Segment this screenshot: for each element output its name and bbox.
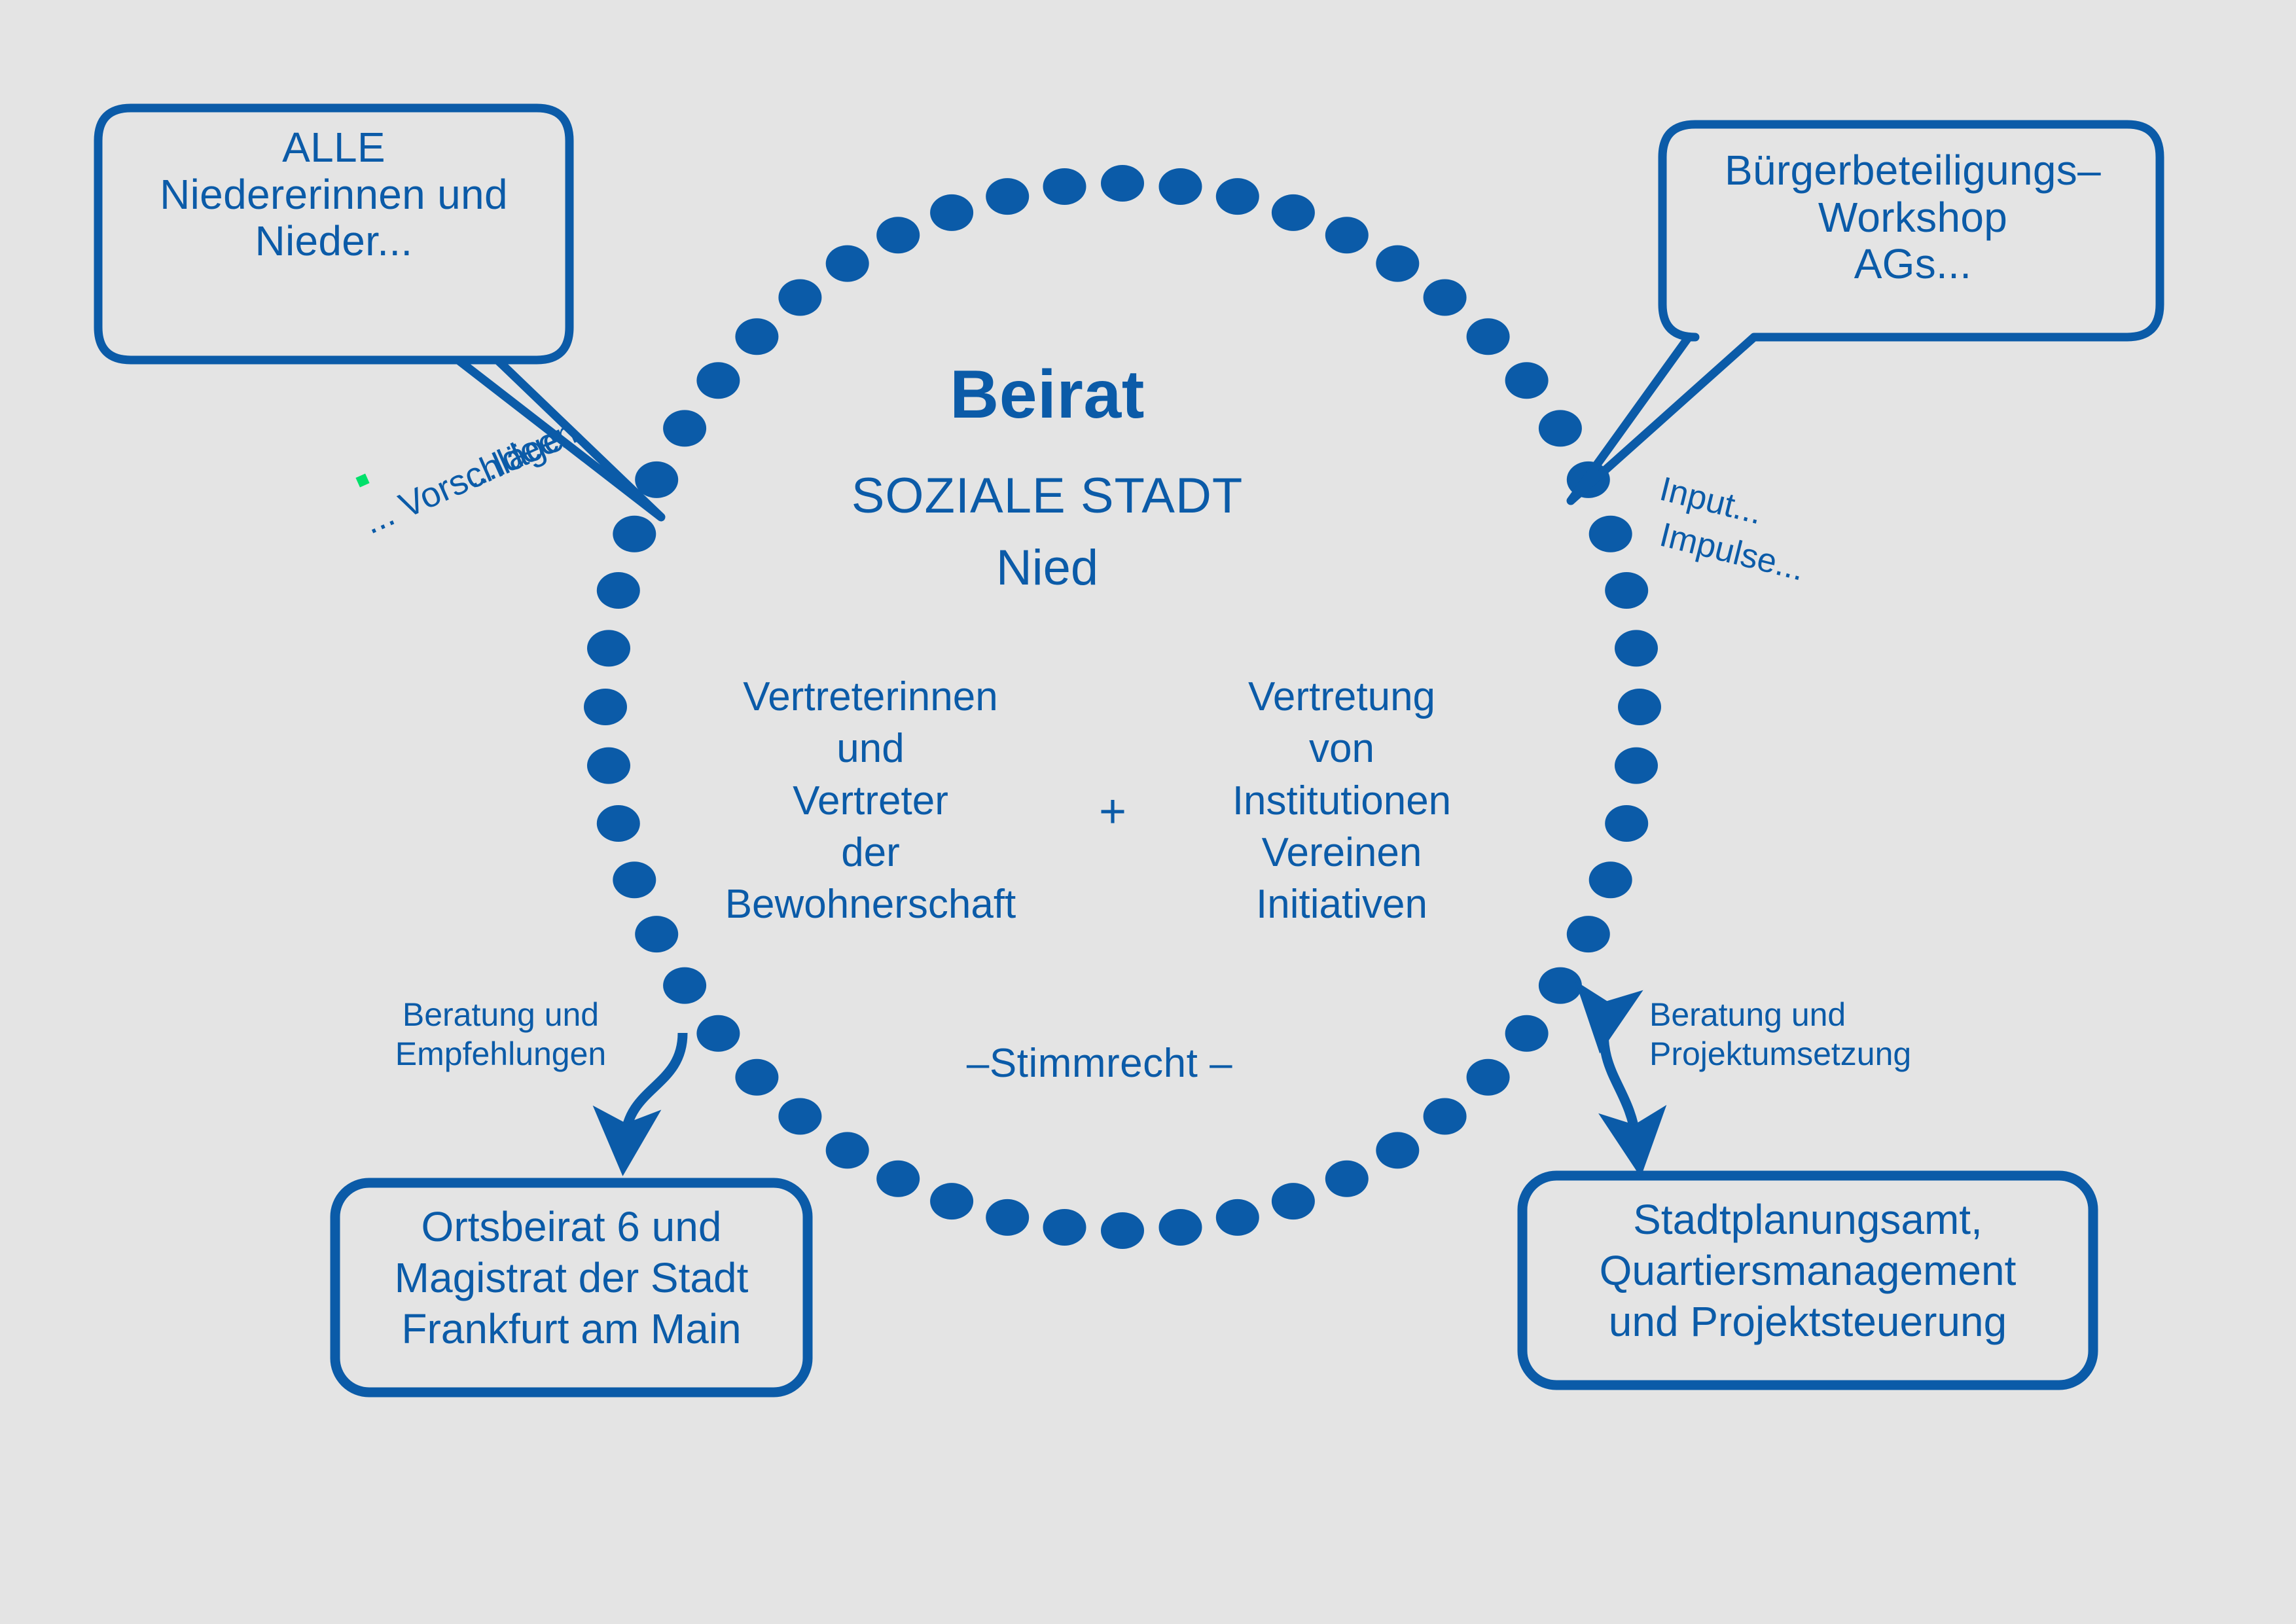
stadtplanungsamt-box-text: Stadtplanungsamt, Quartiersmanagement un… — [1529, 1194, 2087, 1347]
box-line: Quartiersmanagement — [1529, 1245, 2087, 1296]
column-line: Vereinen — [1158, 827, 1525, 878]
box-line: Frankfurt am Main — [342, 1303, 801, 1354]
ring-dot — [1539, 410, 1582, 446]
ring-dot — [1615, 630, 1658, 666]
ring-dot — [1605, 572, 1648, 609]
column-line: Initiativen — [1158, 878, 1525, 930]
ring-dot — [1043, 1209, 1086, 1246]
circle-footer-stimmrecht: –Stimmrecht – — [884, 1041, 1316, 1086]
ring-dot — [597, 805, 640, 842]
buergerbeteiligungs-bubble-text: Bürgerbeteiligungs– Workshop AGs... — [1666, 147, 2160, 288]
box-line: Ortsbeirat 6 und — [342, 1201, 801, 1252]
ring-dot — [1618, 689, 1661, 725]
column-line: von — [1158, 723, 1525, 774]
beratung-projektumsetzung-label: Beratung und Projektumsetzung — [1649, 995, 1990, 1074]
circle-title: Beirat — [753, 357, 1342, 433]
column-line: Vertreterinnen — [668, 671, 1073, 723]
ring-dot — [1101, 1212, 1144, 1249]
ring-dot — [1505, 362, 1549, 399]
ring-dot — [584, 689, 627, 725]
ring-dot — [1159, 168, 1202, 205]
bubble-line: Bürgerbeteiligungs– — [1666, 147, 2160, 194]
ring-dot — [1043, 168, 1086, 205]
column-line: und — [668, 723, 1073, 774]
circle-location: Nied — [753, 540, 1342, 596]
ring-dot — [1376, 1132, 1419, 1168]
ring-dot — [1272, 1183, 1315, 1219]
ring-dot — [1216, 1199, 1259, 1236]
ring-dot — [1325, 217, 1369, 253]
box-line: Magistrat der Stadt — [342, 1252, 801, 1303]
ring-dot — [876, 1161, 920, 1197]
ring-dot — [930, 194, 973, 231]
circle-left-column: Vertreterinnen und Vertreter der Bewohne… — [668, 671, 1073, 931]
connector-line: Empfehlungen — [363, 1034, 638, 1074]
ring-dot — [1376, 245, 1419, 282]
ortsbeirat-magistrat-box-text: Ortsbeirat 6 und Magistrat der Stadt Fra… — [342, 1201, 801, 1354]
bubble-line: Niedererinnen und — [98, 171, 569, 219]
column-line: Vertretung — [1158, 671, 1525, 723]
ring-dot — [1272, 194, 1315, 231]
bubble-line: AGs... — [1666, 241, 2160, 288]
ring-dot — [1101, 165, 1144, 202]
ring-dot — [778, 1098, 821, 1135]
ring-dot — [930, 1183, 973, 1219]
ring-dot — [1159, 1209, 1202, 1246]
connector-line: Beratung und — [1649, 995, 1990, 1034]
circle-right-column: Vertretung von Institutionen Vereinen In… — [1158, 671, 1525, 931]
ring-dot — [1424, 280, 1467, 316]
ring-dot — [1615, 748, 1658, 784]
ring-dot — [826, 1132, 869, 1168]
ring-dot — [1589, 516, 1632, 552]
ring-dot — [1467, 1059, 1510, 1096]
ring-dot — [696, 362, 740, 399]
ring-dot — [587, 748, 630, 784]
ring-dot — [613, 861, 656, 898]
bubble-line: ALLE — [98, 124, 569, 171]
ring-dot — [1589, 861, 1632, 898]
ring-dot — [597, 572, 640, 609]
connector-line: Beratung und — [363, 995, 638, 1034]
ring-dot — [735, 1059, 778, 1096]
column-line: Institutionen — [1158, 775, 1525, 827]
box-line: Stadtplanungsamt, — [1529, 1194, 2087, 1245]
circle-subtitle: SOZIALE STADT — [753, 468, 1342, 524]
ring-dot — [986, 1199, 1029, 1236]
ring-dot — [663, 967, 706, 1004]
bubble-line: Nieder... — [98, 218, 569, 265]
ring-dot — [1539, 967, 1582, 1004]
ring-dot — [1467, 318, 1510, 355]
ring-dot — [1424, 1098, 1467, 1135]
ring-dot — [876, 217, 920, 253]
beratung-empfehlungen-label: Beratung und Empfehlungen — [363, 995, 638, 1074]
column-line: Vertreter — [668, 775, 1073, 827]
ring-dot — [613, 516, 656, 552]
column-line: der — [668, 827, 1073, 878]
ring-dot — [826, 245, 869, 282]
alle-niedererinnen-bubble-text: ALLE Niedererinnen und Nieder... — [98, 124, 569, 265]
ring-dot — [696, 1015, 740, 1052]
ring-dot — [778, 280, 821, 316]
ring-dot — [986, 178, 1029, 215]
diagram-canvas: ALLE Niedererinnen und Nieder... Bürgerb… — [0, 0, 2296, 1624]
ring-dot — [1505, 1015, 1549, 1052]
plus-operator: + — [1073, 785, 1152, 839]
ring-dot — [587, 630, 630, 666]
ring-dot — [1216, 178, 1259, 215]
ring-dot — [1567, 916, 1610, 952]
ring-dot — [663, 410, 706, 446]
ring-dot — [1605, 805, 1648, 842]
ring-dot — [735, 318, 778, 355]
column-line: Bewohnerschaft — [668, 878, 1073, 930]
box-line: und Projektsteuerung — [1529, 1296, 2087, 1347]
ring-dot — [1325, 1161, 1369, 1197]
beratung-projektumsetzung-arrow — [1604, 1017, 1636, 1140]
connector-line: Projektumsetzung — [1649, 1034, 1990, 1074]
bubble-line: Workshop — [1666, 194, 2160, 242]
